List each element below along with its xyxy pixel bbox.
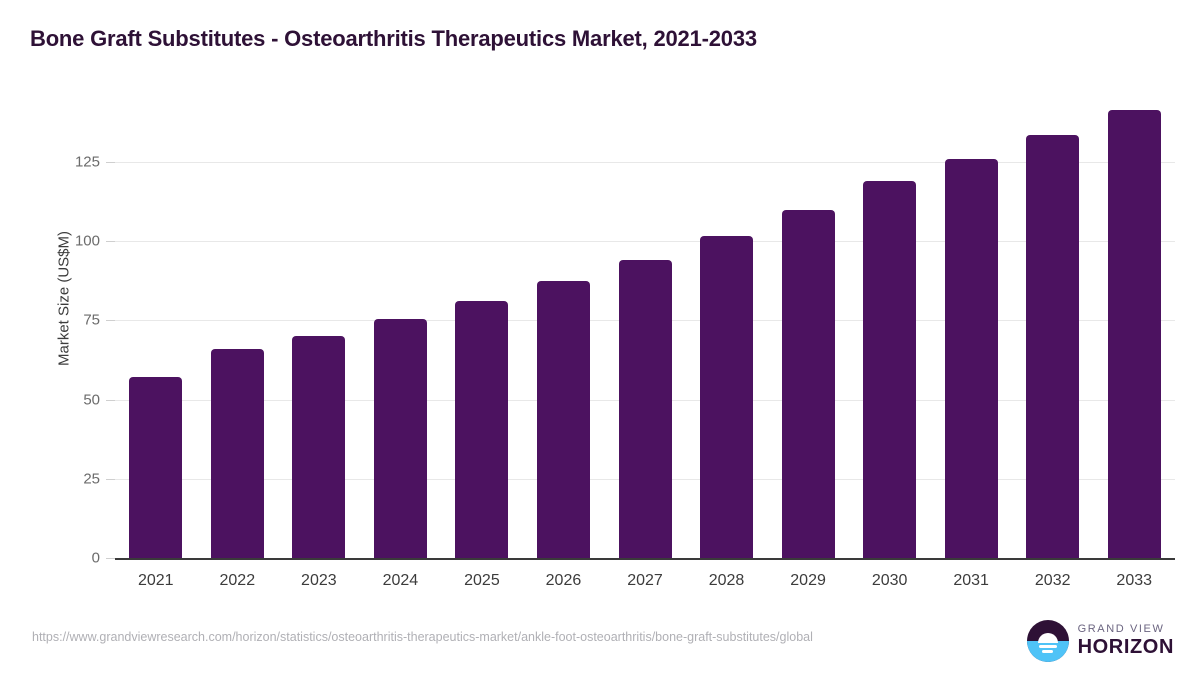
chart-page: Bone Graft Substitutes - Osteoarthritis … [0,0,1200,675]
x-tick-label-2029: 2029 [790,572,826,590]
bar-2029[interactable] [782,210,835,558]
x-tick-label-2021: 2021 [138,572,174,590]
x-tick-label-2033: 2033 [1116,572,1152,590]
logo-line2: HORIZON [1078,637,1174,658]
logo-line-lower [1042,650,1053,653]
bar-2028[interactable] [700,236,753,558]
horizon-sun-icon [1027,620,1069,662]
y-tick-label: 25 [40,470,100,487]
y-tick-label: 100 [40,233,100,250]
bar-2031[interactable] [945,159,998,558]
logo-line1: GRAND VIEW [1078,624,1174,636]
y-tick-mark [106,320,115,321]
y-tick-mark [106,558,115,559]
x-tick-label-2031: 2031 [953,572,989,590]
brand-logo: GRAND VIEW HORIZON [1027,620,1174,662]
x-tick-label-2026: 2026 [546,572,582,590]
x-tick-label-2027: 2027 [627,572,663,590]
x-axis-line [115,558,1175,560]
y-tick-mark [106,162,115,163]
bar-2021[interactable] [129,377,182,558]
bar-2026[interactable] [537,281,590,558]
logo-line-upper [1039,645,1057,648]
y-tick-label: 75 [40,312,100,329]
x-tick-label-2024: 2024 [383,572,419,590]
y-tick-mark [106,241,115,242]
x-tick-label-2028: 2028 [709,572,745,590]
logo-dome-shape [1038,633,1058,643]
y-tick-label: 0 [40,550,100,567]
bar-2023[interactable] [292,336,345,558]
y-tick-mark [106,479,115,480]
gridline [115,162,1175,163]
bar-2024[interactable] [374,319,427,558]
plot-area: Market Size (US$M) 0255075100125 2021202… [0,0,1200,675]
bar-2027[interactable] [619,260,672,558]
bar-2022[interactable] [211,349,264,558]
bar-2030[interactable] [863,181,916,558]
y-tick-label: 50 [40,391,100,408]
y-axis-title: Market Size (US$M) [56,169,73,429]
gridline [115,241,1175,242]
bar-2032[interactable] [1026,135,1079,558]
bar-2025[interactable] [455,301,508,558]
bar-2033[interactable] [1108,110,1161,558]
x-tick-label-2030: 2030 [872,572,908,590]
x-tick-label-2023: 2023 [301,572,337,590]
y-tick-mark [106,400,115,401]
x-tick-label-2025: 2025 [464,572,500,590]
logo-wordmark: GRAND VIEW HORIZON [1078,624,1174,659]
source-url[interactable]: https://www.grandviewresearch.com/horizo… [32,628,912,646]
y-tick-label: 125 [40,154,100,171]
x-tick-label-2032: 2032 [1035,572,1071,590]
x-tick-label-2022: 2022 [220,572,256,590]
